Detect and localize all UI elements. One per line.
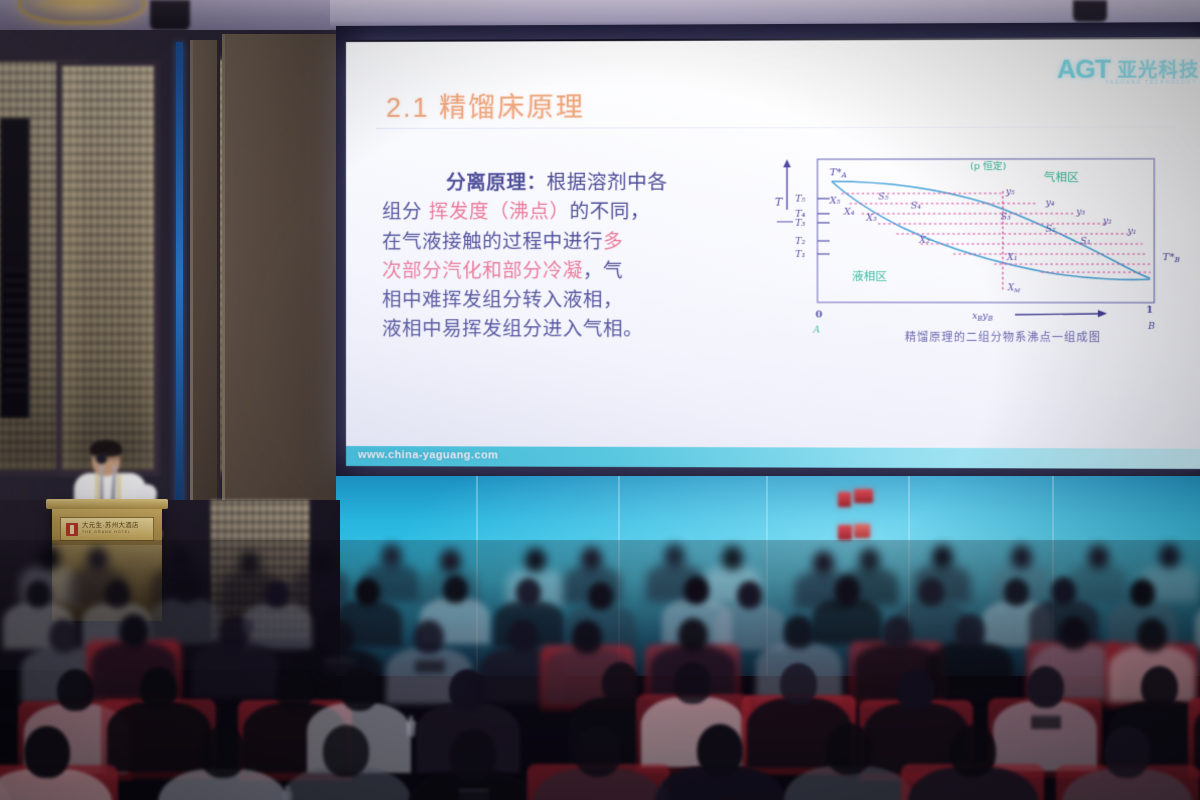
audience-person-head [955,614,985,648]
audience-person [107,702,211,772]
podium-top-edge [46,499,168,509]
audience-person-head [1141,666,1178,708]
audience-person-head [859,548,880,572]
slide-body-text: 分离原理：根据溶剂中各组分 挥发度（沸点）的不同，在气液接触的过程中进行多次部分… [382,167,751,344]
audience-person-head [882,616,912,650]
audience-person-head [440,549,461,573]
svg-text:T₂: T₂ [795,236,805,247]
laptop [415,659,445,673]
audience-person-head [57,669,94,711]
audience-person [151,598,221,644]
emergency-sign-icon [854,489,873,503]
svg-text:xByB: xByB [972,311,993,323]
audience-person-head [311,549,332,573]
svg-text:0: 0 [815,309,822,320]
audience-person-head [826,723,872,775]
audience-person-head [525,548,546,572]
svg-text:S₂: S₂ [1046,225,1056,235]
svg-text:T₁: T₁ [795,249,805,260]
audience-person-head [140,667,177,709]
audience-person-head [200,726,246,778]
audience-person-head [588,582,613,610]
audience-person-head [674,662,711,704]
svg-text:XM: XM [1007,283,1021,294]
audience-person-head [174,575,199,603]
svg-text:X₅: X₅ [829,196,841,207]
slide-body-line: 相中难挥发组分转入液相， [382,285,751,315]
svg-text:y₄: y₄ [1045,198,1055,208]
audience-person-head [87,547,108,571]
audience-person-head [784,615,814,649]
ceiling-speaker-right-icon [1073,0,1107,22]
audience-person-head [581,547,602,571]
audience-person-head [835,576,860,604]
audience-person-head [1051,577,1076,605]
audience-person-head [355,578,380,606]
audience-person-head [276,669,313,711]
audience-person-head [119,614,149,648]
audience-person-head [414,620,444,654]
audience-person-head [813,551,834,575]
audience-person-head [575,725,621,777]
diagram-caption: 精馏原理的二组分物系沸点一组成图 [850,329,1156,346]
title-divider [376,126,1177,129]
svg-text:S₁: S₁ [1080,237,1090,247]
phone [245,619,253,632]
slide-title: 2.1 精馏床原理 [386,85,585,125]
slide-body-line: 组分 挥发度（沸点）的不同， [382,197,751,227]
water-bottle [407,721,416,737]
venue-plaque: 大元生·苏州大酒店 THE GRAND HOTEL [60,517,154,541]
audience-person-head [39,546,60,570]
audience-person-head [897,669,934,711]
audience-person-head [265,580,290,608]
svg-text:T*A: T*A [830,167,847,179]
audience-person [715,604,785,650]
audience-person-head [450,729,496,781]
audience-person-head [572,620,602,654]
audience-person-head [449,669,486,711]
audience-person-head [697,724,743,776]
svg-text:S₄: S₄ [911,202,921,212]
gas-phase-region-label: 气相区 [1044,170,1079,184]
slide-url-text: www.china-yaguang.com [358,449,498,461]
wood-wall-panel [222,34,340,512]
slide-body-line: 液相中易挥发组分进入气相。 [382,314,751,344]
svg-text:X₁: X₁ [1006,252,1018,263]
audience-person-head [1104,726,1150,778]
audience-person-head [722,546,743,570]
audience-person-head [508,619,538,653]
svg-text:T₅: T₅ [795,194,805,205]
audience-person-head [684,576,709,604]
wall-speaker-stack [0,118,30,418]
audience-person-head [1130,579,1155,607]
audience-person-head [1004,578,1029,606]
constant-pressure-annotation: (p 恒定) [970,160,1006,172]
logo-agt-mark: AGT [1057,54,1110,86]
audience-person-head [24,726,70,778]
audience-person-head [443,575,468,603]
audience-person-head [919,578,944,606]
phase-diagram: T T₅ T₄ T₃ T₂ T₁ [769,151,1198,364]
audience-person-head [664,544,685,568]
audience-person-head [932,545,953,569]
audience-person-head [169,547,190,571]
audience-person-head [516,578,541,606]
laptop [1031,715,1061,729]
audience-person-head [780,663,817,705]
audience-person-head [1137,618,1167,652]
audience-person-head [239,551,260,575]
audience-person [1069,564,1127,602]
audience-person-head [26,580,51,608]
svg-text:S₅: S₅ [878,192,888,202]
emergency-sign-icon [838,525,852,540]
audience-person-head [105,580,130,608]
audience-person-head [737,581,762,609]
audience-person-head [1088,545,1109,569]
svg-text:A: A [812,326,820,336]
audience-person-head [323,725,369,777]
audience-person [812,599,882,645]
liquid-phase-region-label: 液相区 [852,269,887,283]
slide-url-bar: www.china-yaguang.com [346,446,1200,469]
svg-text:y₂: y₂ [1102,217,1112,227]
svg-text:y₃: y₃ [1075,207,1085,217]
company-logo: AGT 亚光科技 YAGUANG TECHNOLOGY [1057,53,1199,85]
audience-person-head [381,544,402,568]
slide-body-line: 次部分汽化和部分冷凝，气 [382,256,751,285]
audience-person-head [1059,616,1089,650]
audience-person-head [1027,666,1064,708]
emergency-sign-icon [854,524,870,538]
audience-person [292,569,350,607]
ceiling-speaker-icon [150,0,190,30]
audience-person-head [49,619,79,653]
logo-subtitle: YAGUANG TECHNOLOGY [1105,80,1197,86]
audience-person-head [950,725,996,777]
audience [0,540,1200,800]
svg-text:y₁: y₁ [1127,227,1137,237]
svg-text:1: 1 [1146,305,1153,316]
audience-person [192,642,278,698]
venue-plaque-chinese: 大元生·苏州大酒店 [82,523,139,529]
projection-screen: AGT 亚光科技 YAGUANG TECHNOLOGY 2.1 精馏床原理 分离… [346,37,1200,469]
audience-person-head [1159,544,1180,568]
audience-person [993,701,1097,771]
hotel-logo-icon [66,523,78,536]
svg-text:S₃: S₃ [1001,213,1011,223]
slide-body-line: 在气液接触的过程中进行多 [382,226,751,255]
svg-text:T: T [775,196,783,209]
svg-text:X₂: X₂ [918,235,930,246]
svg-text:T*B: T*B [1162,252,1179,264]
emergency-sign-icon [838,492,851,507]
phase-diagram-svg: T T₅ T₄ T₃ T₂ T₁ [769,151,1198,354]
audience-person-head [341,669,378,711]
decorative-lattice-panel [56,60,160,476]
audience-person-head [678,618,708,652]
slide-body-line: 分离原理：根据溶剂中各 [382,167,751,197]
conference-room-photo: AGT 亚光科技 YAGUANG TECHNOLOGY 2.1 精馏床原理 分离… [0,0,1200,800]
audience-person-head [1011,545,1032,569]
audience-person [927,642,1013,698]
laptop [459,789,489,800]
audience-person-head [602,662,639,704]
venue-plaque-english: THE GRAND HOTEL [82,531,139,535]
wall-column [190,40,220,518]
audience-person-head [324,620,354,654]
svg-text:X₄: X₄ [843,207,855,218]
svg-text:T₃: T₃ [795,218,805,229]
svg-text:X₃: X₃ [865,213,877,224]
svg-text:y₅: y₅ [1005,187,1015,197]
